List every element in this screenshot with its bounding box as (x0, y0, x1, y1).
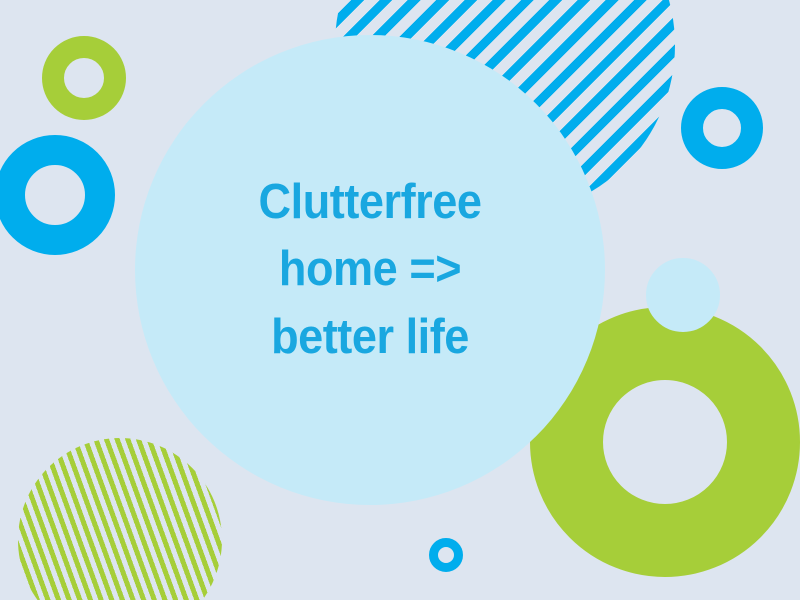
headline: Clutterfree home => better life (154, 35, 586, 505)
headline-line-1: Clutterfree (259, 169, 482, 236)
blue-ring-right-decoration (681, 87, 763, 169)
blue-ring-small-bottom-decoration (429, 538, 463, 572)
poster-canvas: Clutterfree home => better life (0, 0, 800, 600)
headline-line-3: better life (271, 304, 469, 371)
green-ring-top-left-decoration (42, 36, 126, 120)
headline-line-2: home => (279, 236, 461, 303)
light-blue-ring-right-decoration (646, 258, 720, 332)
blue-ring-left-decoration (0, 135, 115, 255)
